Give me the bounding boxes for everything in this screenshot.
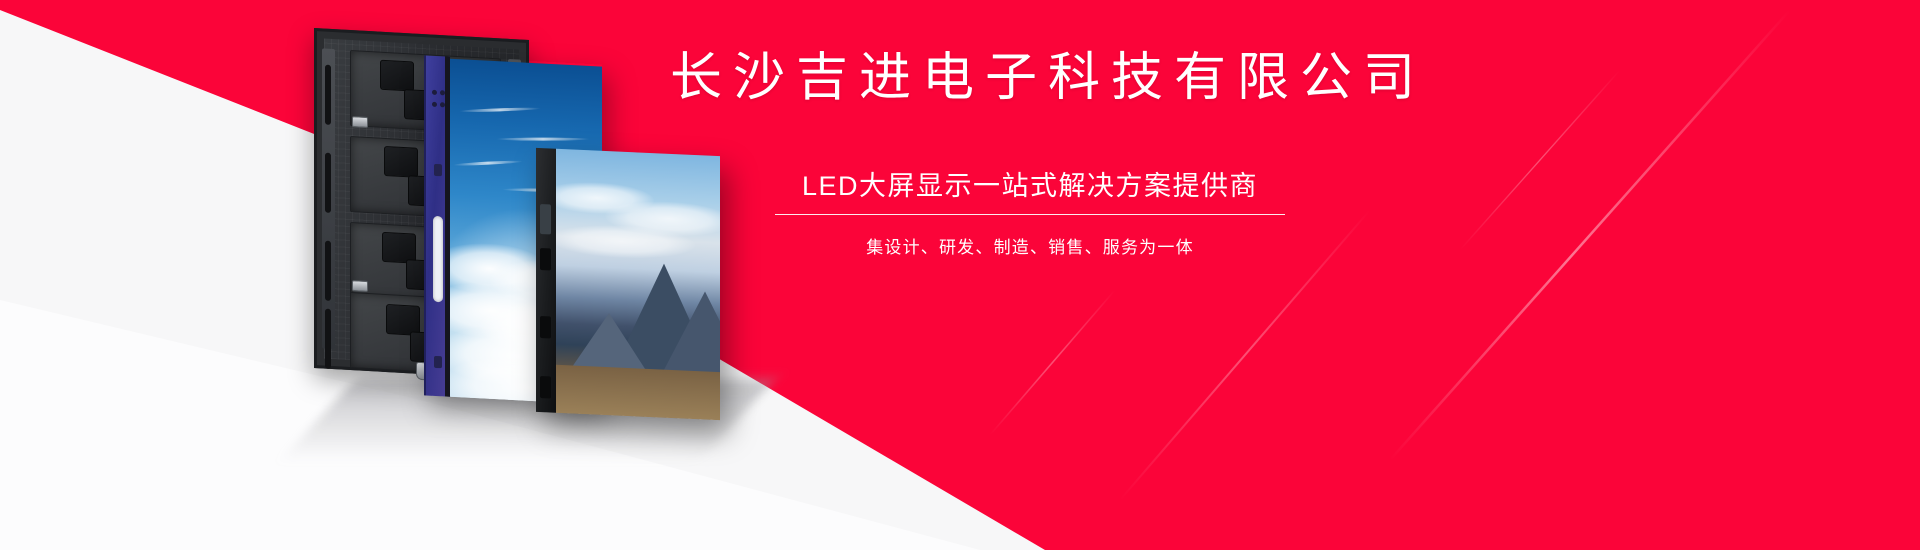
banner-subtitle: LED大屏显示一站式解决方案提供商 <box>770 170 1290 202</box>
blue-cabinet-frame <box>424 55 450 396</box>
subtitle-group: LED大屏显示一站式解决方案提供商 集设计、研发、制造、销售、服务为一体 <box>770 170 1290 258</box>
banner-text-block: 长沙吉进电子科技有限公司 LED大屏显示一站式解决方案提供商 集设计、研发、制造… <box>670 52 1850 332</box>
cabinet-rail-left <box>322 48 335 349</box>
connector <box>352 280 368 292</box>
connector <box>352 116 368 128</box>
company-title: 长沙吉进电子科技有限公司 <box>670 52 1850 104</box>
divider-icon <box>775 214 1285 215</box>
black-cabinet-frame <box>536 148 556 413</box>
power-box <box>384 146 418 178</box>
power-box <box>380 60 414 92</box>
foreground-rocks <box>556 365 720 420</box>
cabinet-handle <box>433 216 443 303</box>
promo-banner: 长沙吉进电子科技有限公司 LED大屏显示一站式解决方案提供商 集设计、研发、制造… <box>0 0 1920 550</box>
banner-tagline: 集设计、研发、制造、销售、服务为一体 <box>770 233 1290 258</box>
